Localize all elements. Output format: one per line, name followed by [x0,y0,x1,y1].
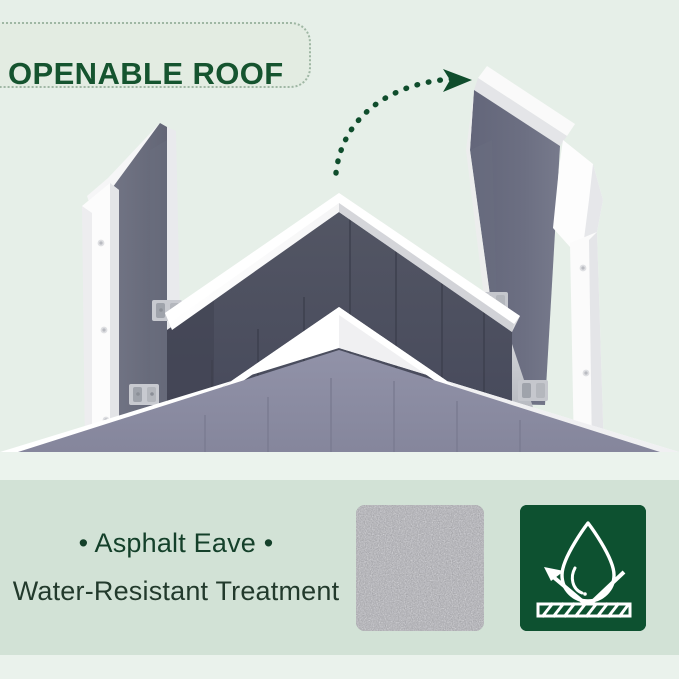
right-hinge-lower [518,380,548,401]
badge-label: OPENABLE ROOF [8,56,284,92]
water-resistant-icon [520,505,646,631]
product-photo: OPENABLE ROOF [0,0,679,452]
feature-panel: • Asphalt Eave • Water-Resistant Treatme… [0,480,679,655]
infographic-root: OPENABLE ROOF • Asphalt Eave • Water-Res… [0,0,679,679]
photo-bottom-strip [0,452,679,480]
openable-roof-badge: OPENABLE ROOF [0,22,311,88]
feature-text-block: • Asphalt Eave • Water-Resistant Treatme… [0,480,352,655]
asphalt-texture-swatch [356,505,484,631]
footer-strip [0,655,679,679]
feature-subtitle: Water-Resistant Treatment [0,576,352,607]
feature-title: • Asphalt Eave • [0,528,352,559]
curved-dotted-arrow [320,55,490,185]
